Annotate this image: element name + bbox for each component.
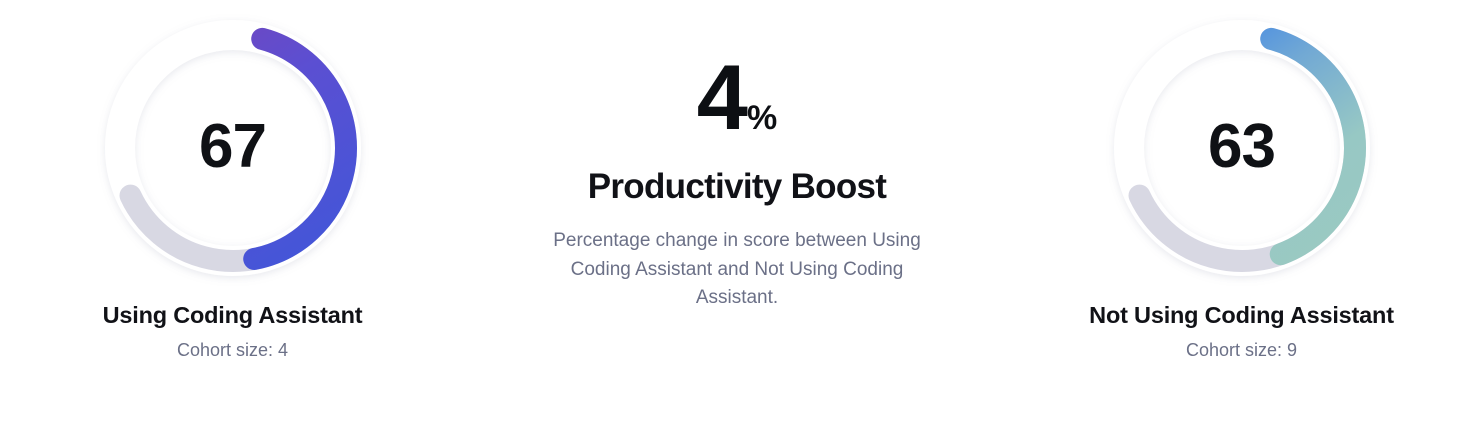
delta-description: Percentage change in score between Using… — [537, 227, 937, 314]
delta-number: 4 — [697, 56, 745, 141]
left-gauge-donut[interactable]: 67 — [109, 24, 357, 272]
left-gauge-caption: Using Coding Assistant — [103, 302, 363, 329]
right-gauge-value: 63 — [1118, 24, 1366, 272]
productivity-boost-panel: 67 Using Coding Assistant Cohort size: 4… — [0, 0, 1474, 426]
delta-title: Productivity Boost — [588, 167, 887, 207]
right-gauge-card: 63 Not Using Coding Assistant Cohort siz… — [1009, 0, 1474, 361]
right-gauge-cohort-size: Cohort size: 9 — [1186, 340, 1297, 361]
delta-card: 4 % Productivity Boost Percentage change… — [517, 0, 957, 313]
left-gauge-value: 67 — [109, 24, 357, 272]
percent-sign-icon: % — [747, 101, 777, 141]
right-gauge-donut[interactable]: 63 — [1118, 24, 1366, 272]
left-gauge-cohort-size: Cohort size: 4 — [177, 340, 288, 361]
left-gauge-card: 67 Using Coding Assistant Cohort size: 4 — [0, 0, 465, 361]
right-gauge-caption: Not Using Coding Assistant — [1089, 302, 1394, 329]
delta-value-group: 4 % — [697, 56, 777, 141]
gauge-row: 67 Using Coding Assistant Cohort size: 4… — [0, 0, 1474, 426]
